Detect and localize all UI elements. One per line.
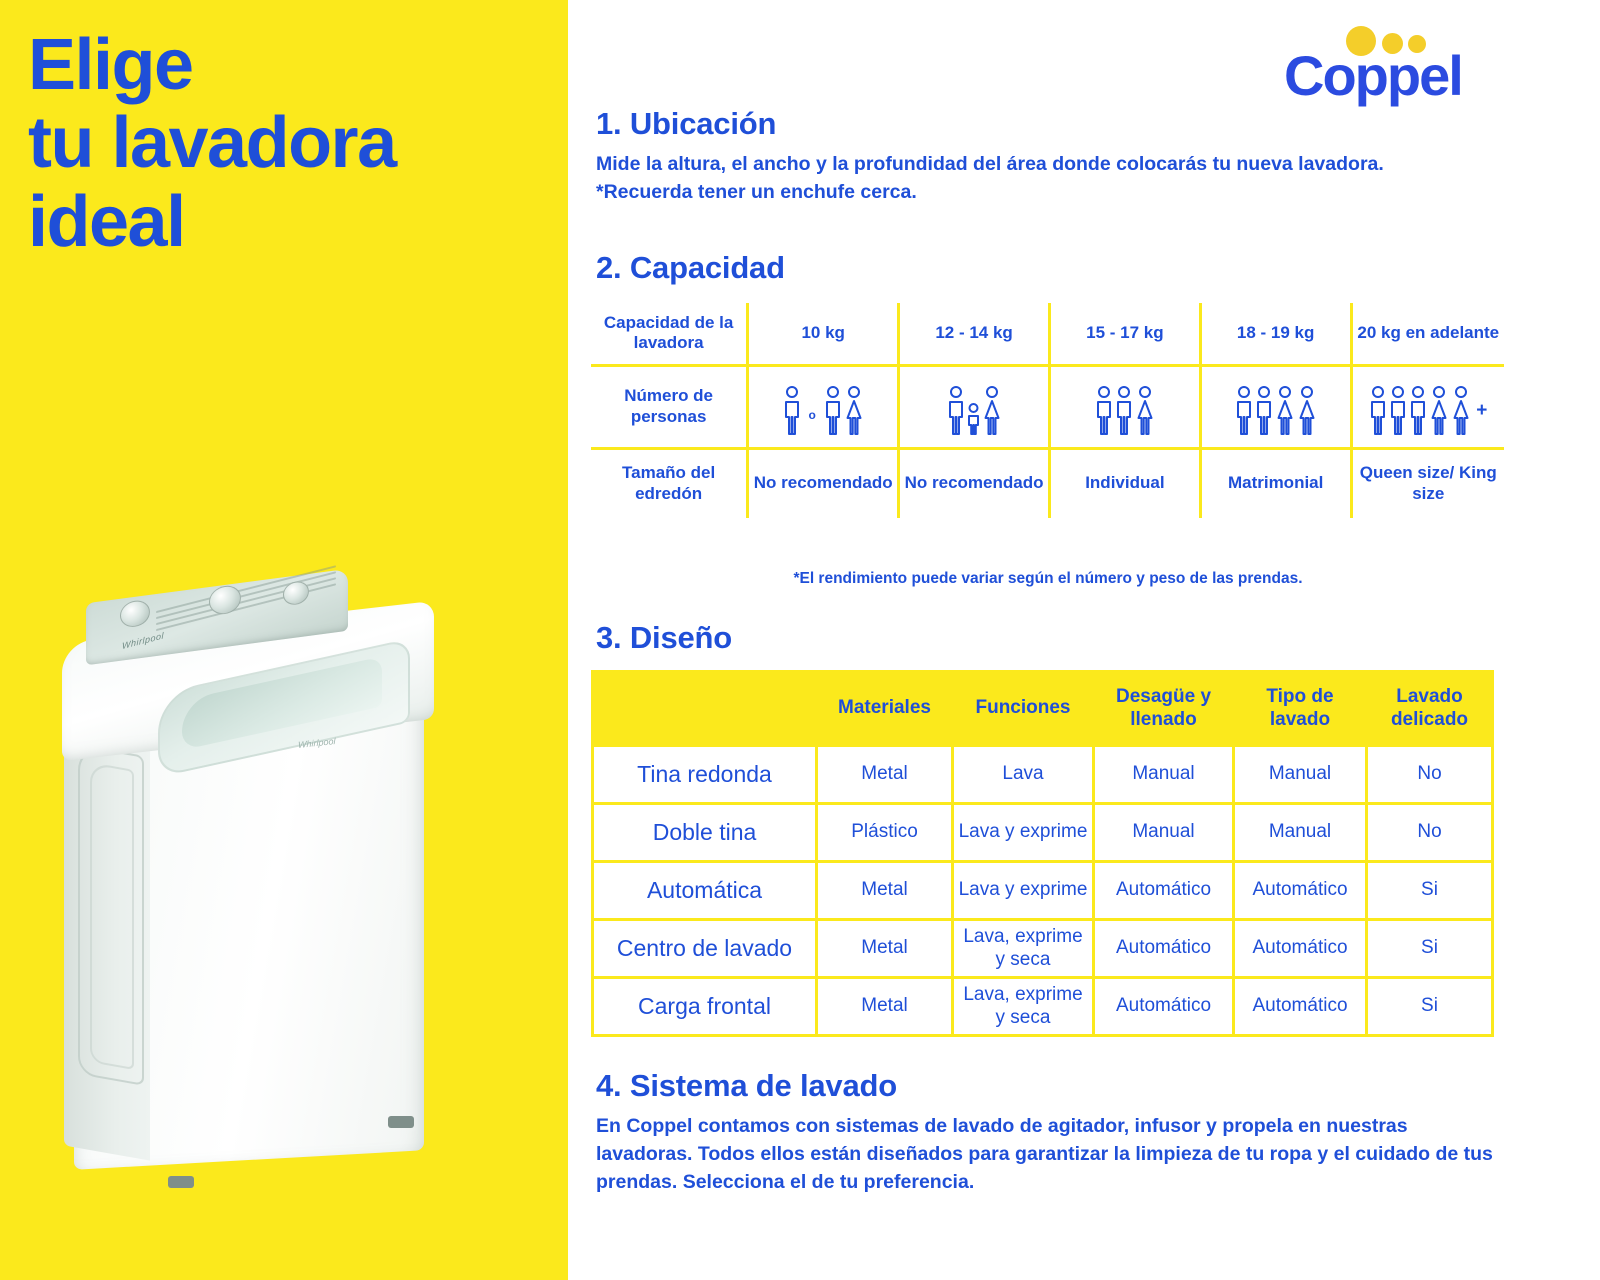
washing-machine-image: Whirlpool Whirlpool: [48, 555, 488, 1215]
person-man-icon: [1409, 385, 1427, 435]
person-man-icon: [824, 385, 842, 435]
people-pictogram-group: o: [751, 379, 895, 435]
design-cell-name: Doble tina: [593, 804, 817, 862]
section-body-sistema: En Coppel contamos con sistemas de lavad…: [596, 1112, 1496, 1196]
capacity-cell: 10 kg: [748, 303, 899, 365]
people-cell: [1050, 365, 1201, 448]
design-col-header-delicado: Lavado delicado: [1367, 672, 1493, 746]
capacity-row-duvet: Tamaño del edredón No recomendado No rec…: [591, 448, 1504, 518]
design-table-row: Tina redondaMetalLavaManualManualNo: [593, 746, 1493, 804]
people-pictogram-group: [1053, 379, 1197, 435]
design-cell-desague: Manual: [1094, 746, 1234, 804]
person-man-icon: [1389, 385, 1407, 435]
design-table-row: Carga frontalMetalLava, exprime y secaAu…: [593, 978, 1493, 1036]
design-table-body: Tina redondaMetalLavaManualManualNoDoble…: [593, 746, 1493, 1036]
duvet-cell: Individual: [1050, 448, 1201, 518]
design-cell-delicado: No: [1367, 746, 1493, 804]
capacity-cell: 15 - 17 kg: [1050, 303, 1201, 365]
design-cell-tipo: Manual: [1234, 746, 1367, 804]
section-heading-ubicacion: 1. Ubicación: [596, 106, 776, 142]
duvet-cell: No recomendado: [899, 448, 1050, 518]
infographic-page: Elige tu lavadora ideal: [0, 0, 1600, 1280]
design-cell-tipo: Automático: [1234, 920, 1367, 978]
design-cell-materiales: Metal: [817, 978, 953, 1036]
person-man-icon: [1095, 385, 1113, 435]
duvet-cell: Matrimonial: [1200, 448, 1351, 518]
person-woman-icon: [982, 385, 1002, 435]
person-man-icon: [1115, 385, 1133, 435]
design-cell-desague: Manual: [1094, 804, 1234, 862]
design-cell-materiales: Plástico: [817, 804, 953, 862]
design-table-row: Doble tinaPlásticoLava y exprimeManualMa…: [593, 804, 1493, 862]
right-content-panel: Coppel 1. Ubicación Mide la altura, el a…: [568, 0, 1600, 1280]
design-cell-funciones: Lava: [953, 746, 1094, 804]
design-cell-tipo: Automático: [1234, 978, 1367, 1036]
design-table-row: Centro de lavadoMetalLava, exprime y sec…: [593, 920, 1493, 978]
design-table-row: AutomáticaMetalLava y exprimeAutomáticoA…: [593, 862, 1493, 920]
design-col-header-tipo: Tipo de lavado: [1234, 672, 1367, 746]
design-col-header-funciones: Funciones: [953, 672, 1094, 746]
headline-line-2: tu lavadora: [28, 104, 548, 182]
duvet-cell: No recomendado: [748, 448, 899, 518]
person-woman-icon: [1297, 385, 1317, 435]
washer-side-contour-inner: [90, 762, 134, 1070]
section-heading-sistema: 4. Sistema de lavado: [596, 1068, 897, 1104]
design-cell-funciones: Lava, exprime y seca: [953, 978, 1094, 1036]
design-col-header-desague: Desagüe y llenado: [1094, 672, 1234, 746]
people-cell: +: [1351, 365, 1504, 448]
design-table-header-row: Materiales Funciones Desagüe y llenado T…: [593, 672, 1493, 746]
duvet-cell: Queen size/ King size: [1351, 448, 1504, 518]
people-row-label: Número de personas: [591, 365, 748, 448]
design-cell-name: Carga frontal: [593, 978, 817, 1036]
section-heading-diseno: 3. Diseño: [596, 620, 732, 656]
headline-line-3: ideal: [28, 183, 548, 261]
capacity-table: Capacidad de la lavadora 10 kg 12 - 14 k…: [591, 303, 1504, 518]
person-man-icon: [1235, 385, 1253, 435]
design-cell-name: Centro de lavado: [593, 920, 817, 978]
person-woman-icon: [1135, 385, 1155, 435]
people-plus-label: +: [1476, 399, 1487, 422]
capacity-footnote: *El rendimiento puede variar según el nú…: [568, 570, 1528, 588]
design-cell-delicado: Si: [1367, 978, 1493, 1036]
design-cell-funciones: Lava y exprime: [953, 804, 1094, 862]
design-cell-delicado: No: [1367, 804, 1493, 862]
person-woman-icon: [1275, 385, 1295, 435]
design-cell-name: Tina redonda: [593, 746, 817, 804]
people-pictogram-group: [1204, 379, 1348, 435]
design-cell-delicado: Si: [1367, 862, 1493, 920]
person-man-icon: [1255, 385, 1273, 435]
section-heading-capacidad: 2. Capacidad: [596, 250, 785, 286]
ubicacion-line-1: Mide la altura, el ancho y la profundida…: [596, 150, 1576, 178]
washer-knob-1: [120, 599, 150, 629]
people-cell: [1200, 365, 1351, 448]
people-separator-label: o: [809, 409, 816, 421]
person-woman-icon: [1429, 385, 1449, 435]
people-pictogram-group: +: [1355, 379, 1502, 435]
person-child-icon: [967, 385, 980, 435]
headline-line-1: Elige: [28, 26, 548, 104]
design-cell-materiales: Metal: [817, 862, 953, 920]
design-cell-delicado: Si: [1367, 920, 1493, 978]
design-cell-tipo: Manual: [1234, 804, 1367, 862]
capacity-row-people: Número de personas o +: [591, 365, 1504, 448]
people-pictogram-group: [902, 379, 1046, 435]
washer-illustration: Whirlpool Whirlpool: [58, 580, 458, 1180]
capacity-cell: 20 kg en adelante: [1351, 303, 1504, 365]
design-cell-desague: Automático: [1094, 862, 1234, 920]
capacity-row-capacities: Capacidad de la lavadora 10 kg 12 - 14 k…: [591, 303, 1504, 365]
section-body-ubicacion: Mide la altura, el ancho y la profundida…: [596, 150, 1576, 206]
logo-wordmark: Coppel: [1284, 48, 1462, 104]
left-hero-panel: Elige tu lavadora ideal: [0, 0, 568, 1280]
person-woman-icon: [844, 385, 864, 435]
coppel-logo: Coppel: [1284, 26, 1494, 112]
design-cell-desague: Automático: [1094, 920, 1234, 978]
duvet-row-label: Tamaño del edredón: [591, 448, 748, 518]
design-cell-funciones: Lava y exprime: [953, 862, 1094, 920]
washer-foot-front: [168, 1176, 194, 1188]
design-table: Materiales Funciones Desagüe y llenado T…: [591, 670, 1494, 1037]
capacity-cell: 12 - 14 kg: [899, 303, 1050, 365]
capacity-row-label: Capacidad de la lavadora: [591, 303, 748, 365]
design-cell-materiales: Metal: [817, 920, 953, 978]
capacity-cell: 18 - 19 kg: [1200, 303, 1351, 365]
design-col-header-blank: [593, 672, 817, 746]
person-man-icon: [1369, 385, 1387, 435]
people-cell: o: [748, 365, 899, 448]
page-title: Elige tu lavadora ideal: [28, 26, 548, 261]
ubicacion-line-2: *Recuerda tener un enchufe cerca.: [596, 178, 1576, 206]
design-cell-desague: Automático: [1094, 978, 1234, 1036]
person-man-icon: [947, 385, 965, 435]
design-cell-funciones: Lava, exprime y seca: [953, 920, 1094, 978]
person-man-icon: [783, 385, 801, 435]
design-cell-name: Automática: [593, 862, 817, 920]
design-cell-tipo: Automático: [1234, 862, 1367, 920]
design-cell-materiales: Metal: [817, 746, 953, 804]
person-woman-icon: [1451, 385, 1471, 435]
design-col-header-materiales: Materiales: [817, 672, 953, 746]
washer-foot-rear: [388, 1116, 414, 1128]
people-cell: [899, 365, 1050, 448]
